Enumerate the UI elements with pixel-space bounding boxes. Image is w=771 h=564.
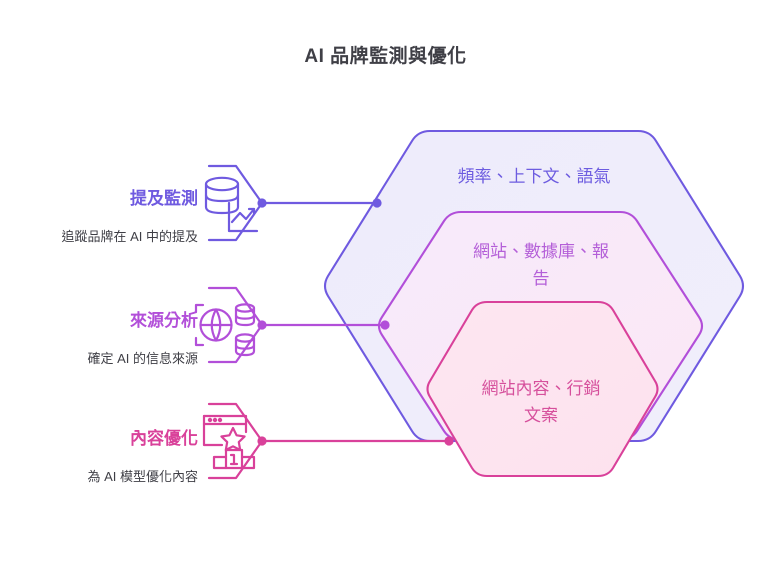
hexagon-middle-label-line2: 告	[533, 269, 550, 288]
hexagon-inner-label-line2: 文案	[524, 406, 558, 425]
hexagon-middle-label: 網站、數據庫、報 告	[452, 238, 630, 292]
connector-mention-monitoring	[257, 198, 381, 207]
legend-desc-mention-monitoring: 追蹤品牌在 AI 中的提及	[61, 228, 198, 246]
legend-title-content-optimization: 內容優化	[130, 428, 198, 450]
browser-star-podium-icon	[204, 404, 262, 478]
legend-title-mention-monitoring: 提及監測	[130, 188, 198, 210]
page-title: AI 品牌監測與優化	[0, 44, 771, 70]
legend-desc-source-analysis: 確定 AI 的信息來源	[87, 350, 198, 368]
legend-desc-content-optimization: 為 AI 模型優化內容	[87, 468, 198, 486]
legend-title-source-analysis: 來源分析	[130, 310, 198, 332]
database-chart-icon	[206, 166, 262, 240]
globe-database-icon	[196, 288, 262, 362]
hexagon-inner-label-line1: 網站內容、行銷	[482, 379, 601, 398]
hexagon-inner-label: 網站內容、行銷 文案	[455, 375, 627, 429]
hexagon-outer-label: 頻率、上下文、語氣	[398, 163, 670, 190]
hexagon-middle-label-line1: 網站、數據庫、報	[473, 242, 609, 261]
